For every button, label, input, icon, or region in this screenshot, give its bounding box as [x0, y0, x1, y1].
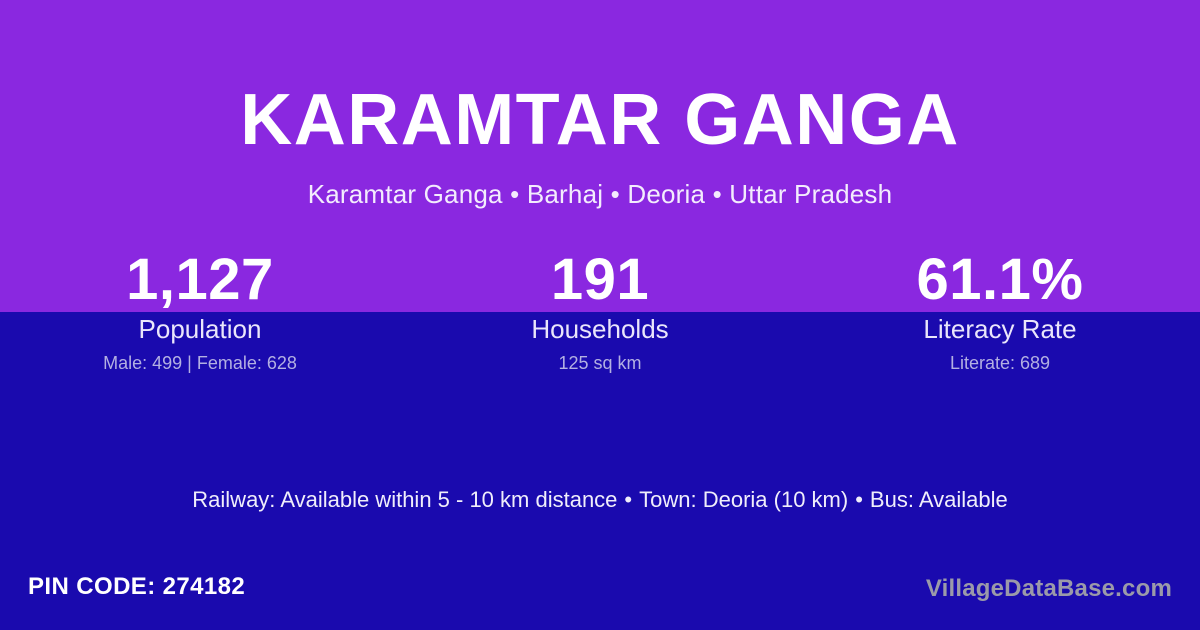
infra-separator-2: • — [848, 487, 870, 512]
breadcrumb: Karamtar Ganga • Barhaj • Deoria • Uttar… — [0, 156, 1200, 209]
village-info-card: KARAMTAR GANGA Karamtar Ganga • Barhaj •… — [0, 0, 1200, 630]
infra-separator-1: • — [617, 487, 639, 512]
stat-households: 191 Households 125 sq km — [400, 248, 800, 374]
infra-town: Town: Deoria (10 km) — [639, 487, 848, 512]
site-watermark: VillageDataBase.com — [926, 574, 1172, 604]
stat-sub-literacy-rate: Literate: 689 — [800, 352, 1200, 374]
stat-literacy-rate: 61.1% Literacy Rate Literate: 689 — [800, 248, 1200, 374]
page-title: KARAMTAR GANGA — [0, 0, 1200, 156]
pin-code-label: PIN CODE: 274182 — [28, 572, 245, 602]
stat-label-households: Households — [400, 314, 800, 344]
stat-value-households: 191 — [400, 248, 800, 312]
infra-bus: Bus: Available — [870, 487, 1008, 512]
stats-row: 1,127 Population Male: 499 | Female: 628… — [0, 248, 1200, 374]
stat-sub-households: 125 sq km — [400, 352, 800, 374]
stat-sub-population: Male: 499 | Female: 628 — [0, 352, 400, 374]
infra-railway: Railway: Available within 5 - 10 km dist… — [192, 487, 617, 512]
card-header: KARAMTAR GANGA Karamtar Ganga • Barhaj •… — [0, 0, 1200, 209]
stat-population: 1,127 Population Male: 499 | Female: 628 — [0, 248, 400, 374]
stat-label-population: Population — [0, 314, 400, 344]
stat-label-literacy-rate: Literacy Rate — [800, 314, 1200, 344]
stat-value-population: 1,127 — [0, 248, 400, 312]
stat-value-literacy-rate: 61.1% — [800, 248, 1200, 312]
infrastructure-summary: Railway: Available within 5 - 10 km dist… — [0, 486, 1200, 514]
card-footer: PIN CODE: 274182 VillageDataBase.com — [0, 558, 1200, 630]
